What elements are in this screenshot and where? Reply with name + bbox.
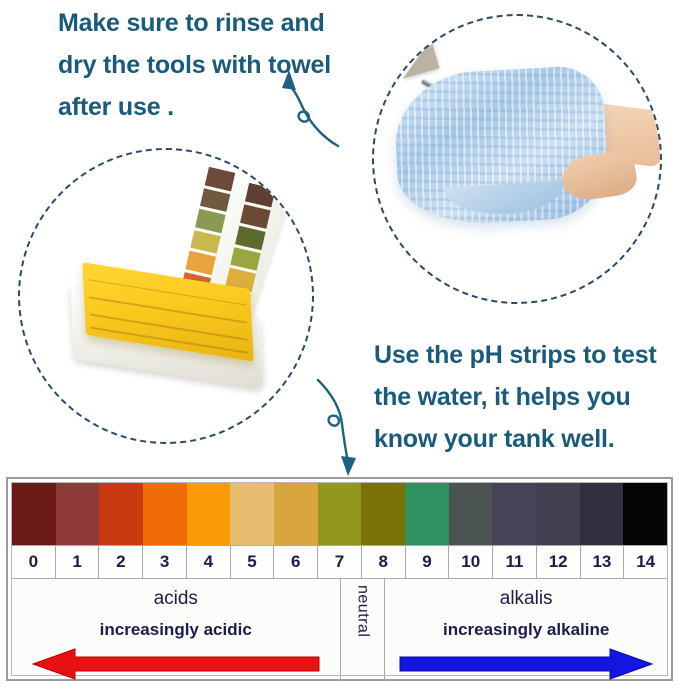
ph-number-5: 5 — [231, 546, 275, 578]
ph-swatch-8 — [361, 483, 405, 545]
photo-circle-towel-drying — [372, 14, 662, 304]
ph-swatch-13 — [580, 483, 624, 545]
alkaline-direction-arrow-icon — [398, 647, 654, 681]
acids-label: acids — [154, 588, 198, 610]
ph-number-2: 2 — [99, 546, 143, 578]
ph-number-0: 0 — [12, 546, 56, 578]
ph-number-10: 10 — [449, 546, 493, 578]
ph-swatch-9 — [405, 483, 449, 545]
ph-swatch-6 — [274, 483, 318, 545]
ph-number-7: 7 — [318, 546, 362, 578]
curved-arrow-down-icon — [300, 378, 366, 478]
ph-number-9: 9 — [406, 546, 450, 578]
photo-ph-booklet-scene — [20, 150, 312, 442]
ph-number-11: 11 — [493, 546, 537, 578]
ph-number-14: 14 — [624, 546, 667, 578]
ph-zone-acids: acids increasingly acidic — [12, 579, 340, 681]
ph-number-13: 13 — [581, 546, 625, 578]
ph-swatch-0 — [12, 483, 56, 545]
ph-number-12: 12 — [537, 546, 581, 578]
ph-color-swatch-row — [12, 483, 667, 545]
ph-number-4: 4 — [187, 546, 231, 578]
ph-zone-row: acids increasingly acidic neutral alkali… — [12, 579, 667, 681]
increasingly-acidic-label: increasingly acidic — [100, 620, 252, 640]
ph-swatch-7 — [318, 483, 362, 545]
ph-swatch-12 — [536, 483, 580, 545]
curved-arrow-up-icon — [276, 66, 346, 148]
ph-swatch-3 — [143, 483, 187, 545]
ph-number-6: 6 — [274, 546, 318, 578]
ph-swatch-14 — [623, 483, 667, 545]
ph-number-8: 8 — [362, 546, 406, 578]
ph-number-row: 0 1 2 3 4 5 6 7 8 9 10 11 12 13 14 — [12, 545, 667, 579]
ph-swatch-11 — [492, 483, 536, 545]
ph-number-3: 3 — [143, 546, 187, 578]
photo-circle-ph-strip-booklet — [18, 148, 314, 444]
ph-zone-neutral: neutral — [340, 579, 386, 681]
ph-number-1: 1 — [56, 546, 100, 578]
ph-swatch-2 — [99, 483, 143, 545]
ph-swatch-1 — [56, 483, 100, 545]
ph-scale-chart: 0 1 2 3 4 5 6 7 8 9 10 11 12 13 14 acids… — [6, 477, 673, 681]
acidic-direction-arrow-icon — [31, 647, 321, 681]
neutral-label: neutral — [353, 585, 371, 637]
ph-swatch-10 — [449, 483, 493, 545]
alkalis-label: alkalis — [500, 588, 553, 610]
photo-towel-scene — [374, 16, 660, 302]
ph-swatch-4 — [187, 483, 231, 545]
scraper-blade-shape — [395, 39, 440, 78]
increasingly-alkaline-label: increasingly alkaline — [443, 620, 609, 640]
instruction-text-ph-strips: Use the pH strips to test the water, it … — [374, 334, 674, 460]
ph-swatch-5 — [230, 483, 274, 545]
ph-chart-frame: 0 1 2 3 4 5 6 7 8 9 10 11 12 13 14 acids… — [11, 482, 668, 676]
ph-zone-alkalis: alkalis increasingly alkaline — [385, 579, 667, 681]
